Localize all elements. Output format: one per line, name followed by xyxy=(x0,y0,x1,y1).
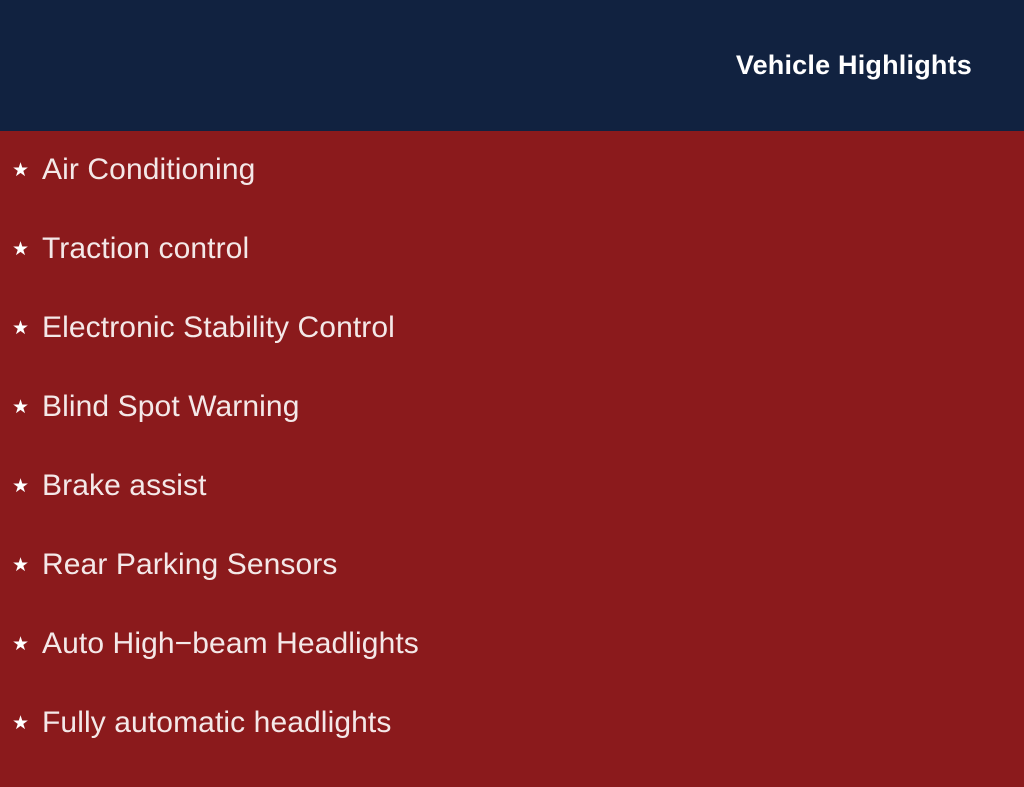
list-item-label: Electronic Stability Control xyxy=(42,313,395,343)
list-item-label: Brake assist xyxy=(42,471,207,501)
list-item: ★ Blind Spot Warning xyxy=(12,392,984,471)
list-item: ★ Electronic Stability Control xyxy=(12,313,984,392)
star-icon: ★ xyxy=(12,635,42,654)
list-item-label: Rear Parking Sensors xyxy=(42,550,337,580)
list-item: ★ Traction control xyxy=(12,234,984,313)
vehicle-highlights-slide: Vehicle Highlights ★ Air Conditioning ★ … xyxy=(0,0,1024,768)
star-icon: ★ xyxy=(12,556,42,575)
list-item-label: Fully automatic headlights xyxy=(42,708,391,738)
page-title: Vehicle Highlights xyxy=(736,51,972,81)
star-icon: ★ xyxy=(12,714,42,733)
vehicle-highlights-list: ★ Air Conditioning ★ Traction control ★ … xyxy=(12,155,984,787)
star-icon: ★ xyxy=(12,240,42,259)
slide-body: ★ Air Conditioning ★ Traction control ★ … xyxy=(0,131,1024,787)
list-item-label: Traction control xyxy=(42,234,249,264)
list-item: ★ Brake assist xyxy=(12,471,984,550)
slide-header: Vehicle Highlights xyxy=(0,0,1024,131)
list-item: ★ Air Conditioning xyxy=(12,155,984,234)
list-item: ★ Fully automatic headlights xyxy=(12,708,984,787)
star-icon: ★ xyxy=(12,319,42,338)
star-icon: ★ xyxy=(12,161,42,180)
list-item: ★ Rear Parking Sensors xyxy=(12,550,984,629)
star-icon: ★ xyxy=(12,398,42,417)
list-item: ★ Auto High−beam Headlights xyxy=(12,629,984,708)
list-item-label: Air Conditioning xyxy=(42,155,255,185)
list-item-label: Auto High−beam Headlights xyxy=(42,629,419,659)
list-item-label: Blind Spot Warning xyxy=(42,392,300,422)
star-icon: ★ xyxy=(12,477,42,496)
